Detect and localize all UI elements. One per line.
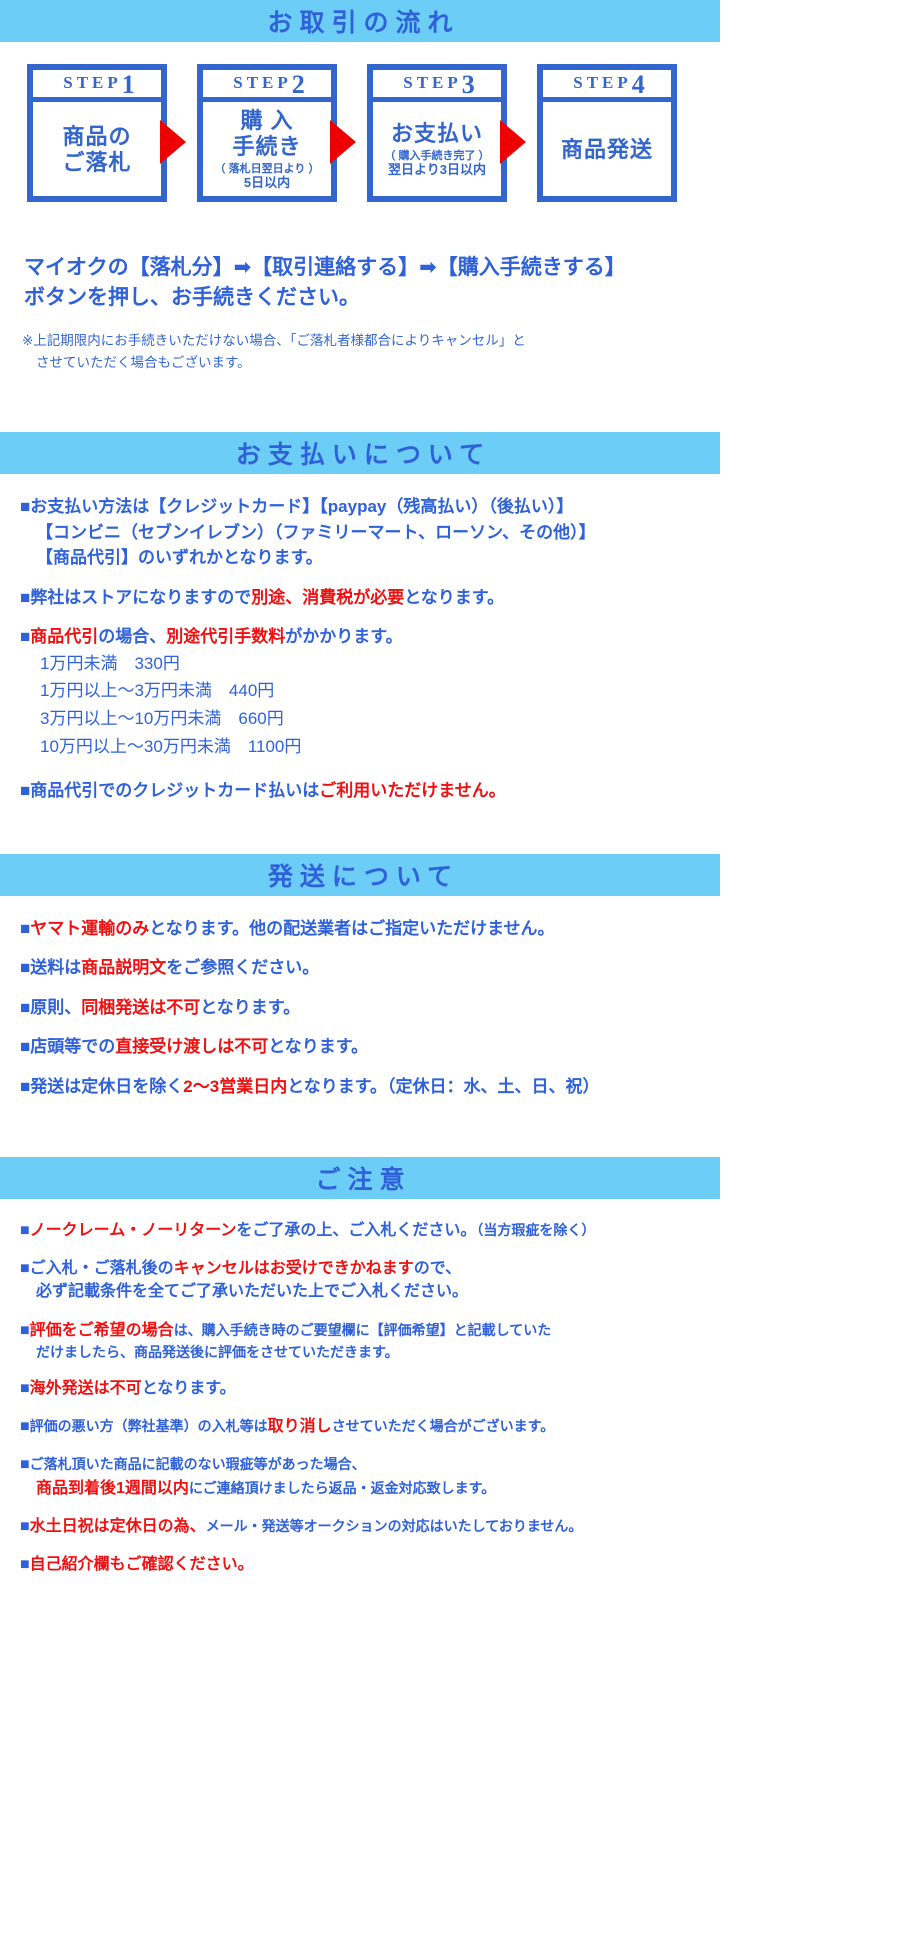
step-card-1: STEP 1 商品の ご落札 xyxy=(27,64,167,202)
bullet-square-icon: ■ xyxy=(20,1418,30,1435)
step-1-body: 商品の ご落札 xyxy=(33,102,161,197)
step-2-word: STEP xyxy=(229,73,292,93)
caution-defect-item: ■ご落札頂いた商品に記載のない瑕疵等があった場合、 商品到着後1週間以内にご連絡… xyxy=(20,1453,720,1499)
payment-tax-item: ■弊社はストアになりますので別途、消費税が必要となります。 xyxy=(20,585,720,611)
bullet-square-icon: ■ xyxy=(20,1260,30,1277)
shipping-pickup-suffix: となります。 xyxy=(268,1037,368,1056)
step-2-line-1: 購 入 xyxy=(240,108,293,134)
step-card-4: STEP 4 商品発送 xyxy=(537,64,677,202)
shipping-fee-suffix: をご参照ください。 xyxy=(166,958,319,977)
payment-cod-emphasis-2: 別途代引手数料 xyxy=(166,627,285,646)
section-title-shipping: 発送について xyxy=(261,857,459,893)
caution-defect-suffix: にご連絡頂けましたら返品・返金対応致します。 xyxy=(189,1480,495,1496)
shipping-bundle-prefix: 原則、 xyxy=(30,998,81,1017)
shipping-fee-item: ■送料は商品説明文をご参照ください。 xyxy=(20,955,720,981)
step-4-word: STEP xyxy=(569,73,632,93)
step-4-header: STEP 4 xyxy=(543,70,671,102)
section-title-flow: お取引の流れ xyxy=(260,3,459,39)
caution-cancel-emphasis: キャンセルはお受けできかねます xyxy=(174,1260,414,1277)
bullet-square-icon: ■ xyxy=(20,1077,30,1096)
flow-lead-text: マイオクの【落札分】➡【取引連絡する】➡【購入手続きする】 ボタンを押し、お手続… xyxy=(24,253,720,314)
step-1-header: STEP 1 xyxy=(33,70,161,102)
section-header-flow: お取引の流れ xyxy=(0,0,720,42)
arrow-icon-1 xyxy=(160,120,186,164)
shipping-body: ■ヤマト運輸のみとなります。他の配送業者はご指定いただけません。 ■送料は商品説… xyxy=(0,896,720,1100)
step-2-note-line-2: 5日以内 xyxy=(244,175,290,190)
shipping-leadtime-suffix: となります。（定休日：水、土、日、祝） xyxy=(287,1077,599,1096)
payment-tax-prefix: 弊社はストアになりますので xyxy=(30,588,251,607)
bullet-square-icon: ■ xyxy=(20,958,30,977)
step-3-line-1: お支払い xyxy=(391,121,483,147)
caution-badrating-emphasis: 取り消し xyxy=(268,1418,332,1435)
caution-holiday-suffix: メール・発送等オークションの対応はいたしておりません。 xyxy=(206,1518,583,1534)
step-3-note: （ 購入手続き完了 ） 翌日より3日以内 xyxy=(384,150,489,178)
payment-methods-item: ■お支払い方法は【クレジットカード】【paypay（残高払い）（後払い）】 【コ… xyxy=(20,494,720,571)
caution-profile-emphasis: 自己紹介欄もご確認ください。 xyxy=(30,1556,254,1573)
shipping-bundle-item: ■原則、同梱発送は不可となります。 xyxy=(20,995,720,1021)
shipping-carrier-suffix: となります。他の配送業者はご指定いただけません。 xyxy=(149,919,554,938)
caution-defect-prefix: ご落札頂いた商品に記載のない瑕疵等があった場合、 xyxy=(30,1456,366,1472)
step-3-word: STEP xyxy=(399,73,462,93)
shipping-fee-prefix: 送料は xyxy=(30,958,81,977)
step-2-number: 2 xyxy=(292,72,305,98)
bullet-square-icon: ■ xyxy=(20,1037,30,1056)
bullet-square-icon: ■ xyxy=(20,1222,30,1239)
shipping-carrier-item: ■ヤマト運輸のみとなります。他の配送業者はご指定いただけません。 xyxy=(20,916,720,942)
shipping-fee-emphasis: 商品説明文 xyxy=(81,958,166,977)
caution-noclaim-suffix: をご了承の上、ご入札ください。 xyxy=(236,1222,476,1239)
caution-badrating-item: ■評価の悪い方（弊社基準）の入札等は取り消しさせていただく場合がございます。 xyxy=(20,1415,720,1438)
caution-noclaim-emphasis: ノークレーム・ノーリターン xyxy=(30,1222,237,1239)
step-card-3: STEP 3 お支払い （ 購入手続き完了 ） 翌日より3日以内 xyxy=(367,64,507,202)
payment-cod-card-emphasis: ご利用いただけません。 xyxy=(319,781,506,800)
shipping-carrier-emphasis: ヤマト運輸のみ xyxy=(30,919,149,938)
caution-holiday-item: ■水土日祝は定休日の為、メール・発送等オークションの対応はいたしておりません。 xyxy=(20,1515,720,1538)
step-3-note-line-1: （ 購入手続き完了 ） xyxy=(384,150,489,162)
cod-fee-row: 10万円以上～30万円未満 1100円 xyxy=(40,733,720,761)
step-1-word: STEP xyxy=(59,73,122,93)
flow-lead-line-1: マイオクの【落札分】➡【取引連絡する】➡【購入手続きする】 xyxy=(24,253,720,283)
payment-methods-line-1: お支払い方法は【クレジットカード】【paypay（残高払い）（後払い）】 xyxy=(30,497,573,516)
step-flow-diagram: STEP 1 商品の ご落札 STEP 2 購 入 手続き （ 落札日翌日より … xyxy=(0,64,720,229)
bullet-square-icon: ■ xyxy=(20,919,30,938)
caution-cancel-prefix: ご入札・ご落札後の xyxy=(30,1260,174,1277)
shipping-leadtime-item: ■発送は定休日を除く2～3営業日内となります。（定休日：水、土、日、祝） xyxy=(20,1074,720,1100)
payment-methods-line-3: 【商品代引】のいずれかとなります。 xyxy=(20,545,720,571)
caution-rating-emphasis: 評価をご希望の場合 xyxy=(30,1322,174,1339)
shipping-leadtime-prefix: 発送は定休日を除く xyxy=(30,1077,183,1096)
shipping-bundle-suffix: となります。 xyxy=(200,998,300,1017)
step-2-note: （ 落札日翌日より ） 5日以内 xyxy=(215,163,320,191)
step-1-number: 1 xyxy=(122,72,135,98)
auction-terms-page: お取引の流れ STEP 1 商品の ご落札 STEP 2 購 入 手続き xyxy=(0,0,720,1633)
bullet-square-icon: ■ xyxy=(20,781,30,800)
step-4-body: 商品発送 xyxy=(543,102,671,197)
step-3-body: お支払い （ 購入手続き完了 ） 翌日より3日以内 xyxy=(373,102,501,197)
flow-disclaimer-line-1: ※上記期限内にお手続きいただけない場合、「ご落札者様都合によりキャンセル」と xyxy=(22,333,526,348)
section-header-payment: お支払いについて xyxy=(0,432,720,474)
step-2-line-2: 手続き xyxy=(232,134,301,160)
flow-lead-line-2: ボタンを押し、お手続きください。 xyxy=(24,283,720,313)
shipping-pickup-prefix: 店頭等での xyxy=(30,1037,115,1056)
step-3-header: STEP 3 xyxy=(373,70,501,102)
step-2-body: 購 入 手続き （ 落札日翌日より ） 5日以内 xyxy=(203,102,331,197)
caution-cancel-item: ■ご入札・ご落札後のキャンセルはお受けできかねますので、 必ず記載条件を全てご了… xyxy=(20,1257,720,1303)
step-1-line-1: 商品の xyxy=(62,124,131,150)
bullet-square-icon: ■ xyxy=(20,588,30,607)
payment-cod-emphasis-1: 商品代引 xyxy=(30,627,98,646)
section-title-payment: お支払いについて xyxy=(229,435,491,471)
bullet-square-icon: ■ xyxy=(20,998,30,1017)
caution-holiday-emphasis: 水土日祝は定休日の為、 xyxy=(30,1518,206,1535)
section-title-caution: ご注意 xyxy=(308,1160,411,1196)
bullet-square-icon: ■ xyxy=(20,1380,30,1397)
caution-overseas-emphasis: 海外発送は不可 xyxy=(30,1380,142,1397)
caution-rating-item: ■評価をご希望の場合は、購入手続き時のご要望欄に【評価希望】と記載していた だけ… xyxy=(20,1319,720,1362)
step-3-note-line-2: 翌日より3日以内 xyxy=(388,162,486,177)
shipping-pickup-item: ■店頭等での直接受け渡しは不可となります。 xyxy=(20,1034,720,1060)
cod-fee-row: 1万円未満 330円 xyxy=(40,650,720,678)
step-2-header: STEP 2 xyxy=(203,70,331,102)
cod-fee-row: 1万円以上～3万円未満 440円 xyxy=(40,677,720,705)
payment-methods-line-2: 【コンビニ（セブンイレブン）（ファミリーマート、ローソン、その他）】 xyxy=(20,520,720,546)
caution-noclaim-item: ■ノークレーム・ノーリターンをご了承の上、ご入札ください。（当方瑕疵を除く） xyxy=(20,1219,720,1242)
caution-cancel-line-2: 必ず記載条件を全てご了承いただいた上でご入札ください。 xyxy=(20,1280,720,1303)
shipping-bundle-emphasis: 同梱発送は不可 xyxy=(81,998,200,1017)
caution-rating-suffix: は、購入手続き時のご要望欄に【評価希望】と記載していた xyxy=(174,1322,552,1338)
bullet-square-icon: ■ xyxy=(20,497,30,516)
cod-fee-row: 3万円以上～10万円未満 660円 xyxy=(40,705,720,733)
shipping-leadtime-emphasis: 2～3営業日内 xyxy=(183,1077,287,1096)
bullet-square-icon: ■ xyxy=(20,1556,30,1573)
bullet-square-icon: ■ xyxy=(20,627,30,646)
bullet-square-icon: ■ xyxy=(20,1518,30,1535)
caution-badrating-suffix: させていただく場合がございます。 xyxy=(332,1418,555,1434)
step-2-note-line-1: （ 落札日翌日より ） xyxy=(215,163,320,175)
cod-fee-list: 1万円未満 330円 1万円以上～3万円未満 440円 3万円以上～10万円未満… xyxy=(20,650,720,760)
caution-overseas-item: ■海外発送は不可となります。 xyxy=(20,1377,720,1400)
caution-noclaim-tail: （当方瑕疵を除く） xyxy=(476,1222,595,1238)
section-header-caution: ご注意 xyxy=(0,1157,720,1199)
caution-cancel-suffix: ので、 xyxy=(414,1260,461,1277)
caution-profile-item: ■自己紹介欄もご確認ください。 xyxy=(20,1553,720,1576)
payment-cod-suffix: がかかります。 xyxy=(285,627,402,646)
arrow-icon-2 xyxy=(330,120,356,164)
shipping-pickup-emphasis: 直接受け渡しは不可 xyxy=(115,1037,268,1056)
step-1-line-2: ご落札 xyxy=(62,150,131,176)
bullet-square-icon: ■ xyxy=(20,1456,30,1473)
flow-disclaimer: ※上記期限内にお手続きいただけない場合、「ご落札者様都合によりキャンセル」と さ… xyxy=(22,330,720,375)
payment-tax-suffix: となります。 xyxy=(404,588,504,607)
caution-rating-line-2: だけましたら、商品発送後に評価をさせていただきます。 xyxy=(20,1342,720,1362)
step-3-number: 3 xyxy=(462,72,475,98)
payment-cod-card-item: ■商品代引でのクレジットカード払いはご利用いただけません。 xyxy=(20,778,720,804)
payment-cod-card-prefix: 商品代引でのクレジットカード払いは xyxy=(30,781,319,800)
payment-body: ■お支払い方法は【クレジットカード】【paypay（残高払い）（後払い）】 【コ… xyxy=(0,474,720,803)
flow-disclaimer-line-2: させていただく場合もございます。 xyxy=(22,352,720,374)
payment-tax-emphasis: 別途、消費税が必要 xyxy=(251,588,404,607)
payment-cod-item: ■商品代引の場合、別途代引手数料がかかります。 1万円未満 330円 1万円以上… xyxy=(20,624,720,760)
caution-badrating-prefix: 評価の悪い方（弊社基準）の入札等は xyxy=(30,1418,268,1434)
caution-body: ■ノークレーム・ノーリターンをご了承の上、ご入札ください。（当方瑕疵を除く） ■… xyxy=(0,1199,720,1576)
section-header-shipping: 発送について xyxy=(0,854,720,896)
caution-defect-emphasis: 商品到着後1週間以内 xyxy=(36,1480,189,1497)
step-4-number: 4 xyxy=(632,72,645,98)
caution-defect-line-2: 商品到着後1週間以内にご連絡頂けましたら返品・返金対応致します。 xyxy=(20,1477,720,1500)
arrow-icon-3 xyxy=(500,120,526,164)
payment-cod-mid: の場合、 xyxy=(98,627,166,646)
bullet-square-icon: ■ xyxy=(20,1322,30,1339)
caution-overseas-suffix: となります。 xyxy=(142,1380,236,1397)
step-card-2: STEP 2 購 入 手続き （ 落札日翌日より ） 5日以内 xyxy=(197,64,337,202)
step-4-line-1: 商品発送 xyxy=(561,137,653,163)
